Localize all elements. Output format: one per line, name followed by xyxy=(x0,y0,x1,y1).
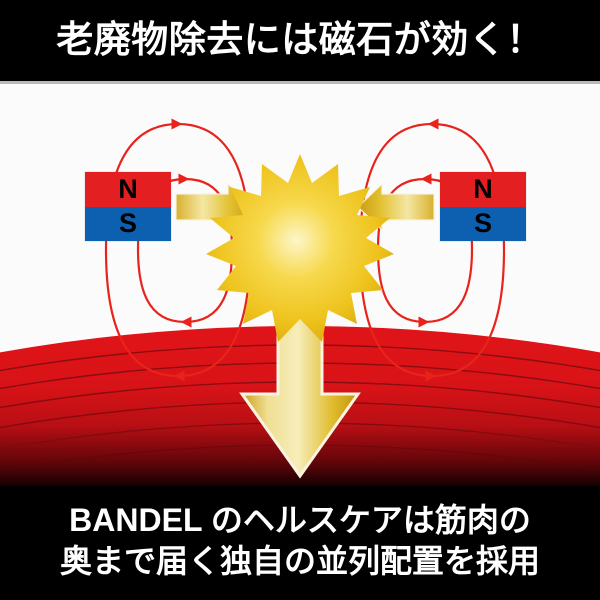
magnet-left-north-label: N xyxy=(118,176,138,203)
magnet-right-north-pole: N xyxy=(440,172,526,207)
magnet-left: N S xyxy=(85,172,171,241)
magnet-right-south-pole: S xyxy=(440,207,526,242)
magnet-left-south-label: S xyxy=(119,210,137,237)
header-band: 老廃物除去には磁石が効く！ xyxy=(0,0,600,81)
illustration-stage: N S N S xyxy=(0,84,600,486)
magnet-right-north-label: N xyxy=(473,176,493,203)
magnet-left-north-pole: N xyxy=(85,172,171,207)
magnet-right-south-label: S xyxy=(474,210,492,237)
promo-graphic: 老廃物除去には磁石が効く！ xyxy=(0,0,600,600)
illustration-svg xyxy=(0,84,600,486)
header-divider xyxy=(0,81,600,84)
caption-line-1: BANDEL のヘルスケアは筋肉の xyxy=(0,500,600,541)
page-title: 老廃物除去には磁石が効く！ xyxy=(0,17,600,63)
caption-line-2: 奥まで届く独自の並列配置を採用 xyxy=(0,541,600,582)
caption-band: BANDEL のヘルスケアは筋肉の 奥まで届く独自の並列配置を採用 xyxy=(0,486,600,600)
magnet-right: N S xyxy=(440,172,526,241)
magnet-left-south-pole: S xyxy=(85,207,171,242)
